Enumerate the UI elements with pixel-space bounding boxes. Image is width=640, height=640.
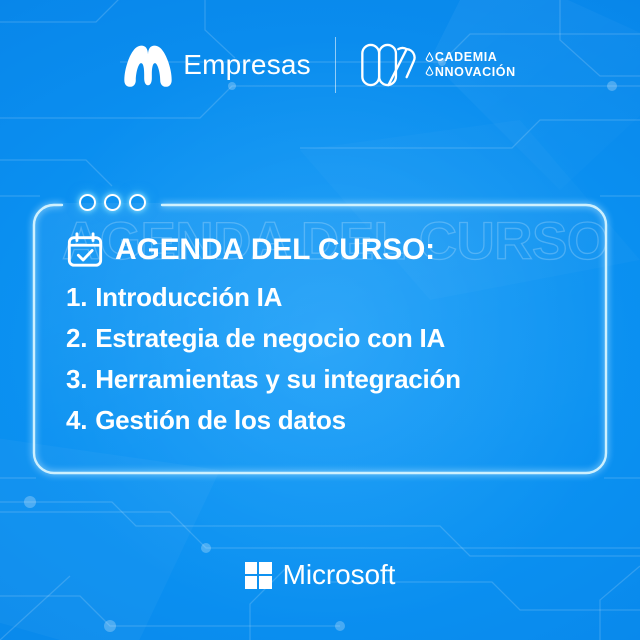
microsoft-logo: Microsoft <box>245 561 396 589</box>
innovacion-line: NNOVACIÓN <box>425 66 516 80</box>
list-item-label: Herramientas y su integración <box>95 366 461 392</box>
brand-divider <box>335 37 336 93</box>
list-item: 1. Introducción IA <box>66 284 574 310</box>
list-item-label: Estrategia de negocio con IA <box>95 325 445 351</box>
agenda-title-row: AGENDA DEL CURSO: <box>66 231 574 269</box>
movistar-m-logo-icon <box>124 43 172 87</box>
slide-canvas: Empresas CADEMIA <box>0 0 640 640</box>
microsoft-grid-icon <box>245 562 272 589</box>
microsoft-square-2 <box>259 562 271 574</box>
microsoft-square-1 <box>245 562 257 574</box>
calendar-check-icon <box>66 231 104 269</box>
brand-empresas-label: Empresas <box>183 51 311 79</box>
list-item-number: 4. <box>66 407 87 433</box>
academia-label: CADEMIA <box>435 51 498 65</box>
microsoft-square-4 <box>259 576 271 588</box>
list-item: 3. Herramientas y su integración <box>66 366 574 392</box>
list-item: 4. Gestión de los datos <box>66 407 574 433</box>
academia-innovacion-wordmark: CADEMIA NNOVACIÓN <box>425 51 516 79</box>
microsoft-square-3 <box>245 576 257 588</box>
innovacion-label: NNOVACIÓN <box>435 66 516 80</box>
list-item-label: Gestión de los datos <box>95 407 346 433</box>
list-item-label: Introducción IA <box>95 284 282 310</box>
list-item: 2. Estrategia de negocio con IA <box>66 325 574 351</box>
page-title: AGENDA DEL CURSO: <box>115 235 435 265</box>
water-drop-icon-2 <box>425 66 434 78</box>
header-brand-bar: Empresas CADEMIA <box>0 0 640 130</box>
microsoft-wordmark: Microsoft <box>283 561 396 589</box>
academia-innovacion-mark-icon <box>360 42 416 88</box>
agenda-card: AGENDA DEL CURSO AGENDA DEL CURSO: 1. In… <box>32 203 608 475</box>
academia-innovacion-logo: CADEMIA NNOVACIÓN <box>360 42 516 88</box>
list-item-number: 3. <box>66 366 87 392</box>
academia-line: CADEMIA <box>425 51 516 65</box>
list-item-number: 1. <box>66 284 87 310</box>
water-drop-icon <box>425 52 434 64</box>
agenda-list: 1. Introducción IA 2. Estrategia de nego… <box>66 284 574 433</box>
footer-brand-bar: Microsoft <box>0 510 640 640</box>
movistar-empresas-logo: Empresas <box>124 43 311 87</box>
list-item-number: 2. <box>66 325 87 351</box>
agenda-card-body: AGENDA DEL CURSO: 1. Introducción IA 2. … <box>32 203 608 475</box>
